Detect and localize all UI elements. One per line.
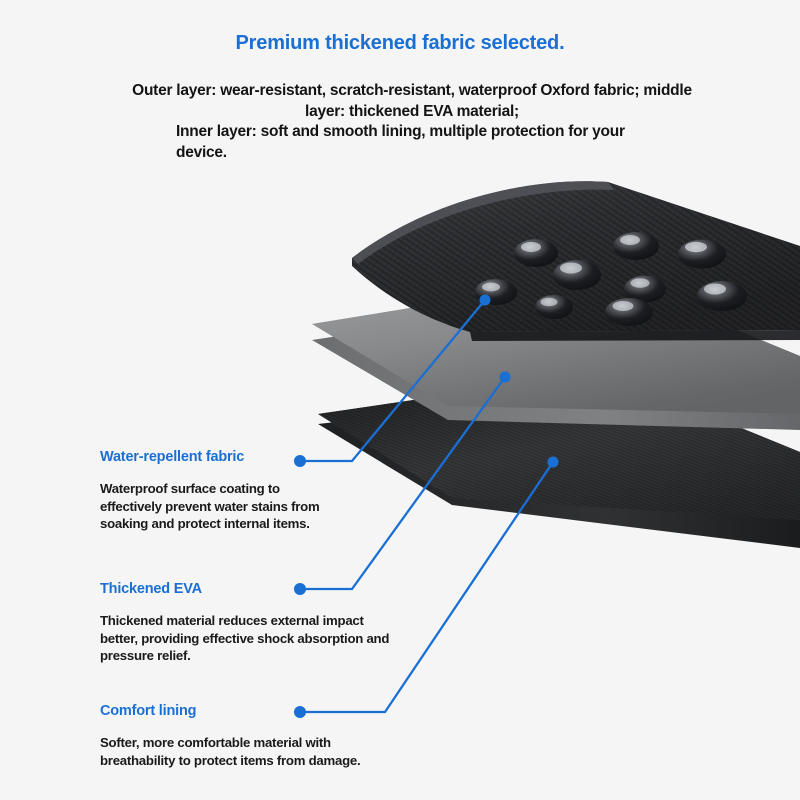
callout-body: Thickened material reduces external impa… xyxy=(100,612,400,665)
callout-heading: Water-repellent fabric xyxy=(100,448,340,466)
outer-layer-anchor xyxy=(480,295,491,306)
callout-heading: Thickened EVA xyxy=(100,580,400,598)
callout-heading: Comfort lining xyxy=(100,702,400,720)
infographic-page: Premium thickened fabric selected. Outer… xyxy=(0,0,800,800)
callout-body: Waterproof surface coating to effectivel… xyxy=(100,480,340,533)
callout-water-repellent-fabric: Water-repellent fabric Waterproof surfac… xyxy=(100,448,340,533)
layer-illustration xyxy=(0,0,800,800)
callout-comfort-lining: Comfort lining Softer, more comfortable … xyxy=(100,702,400,769)
middle-layer-anchor xyxy=(500,372,511,383)
callout-thickened-eva: Thickened EVA Thickened material reduces… xyxy=(100,580,400,665)
inner-layer-anchor xyxy=(548,457,559,468)
callout-body: Softer, more comfortable material with b… xyxy=(100,734,400,769)
